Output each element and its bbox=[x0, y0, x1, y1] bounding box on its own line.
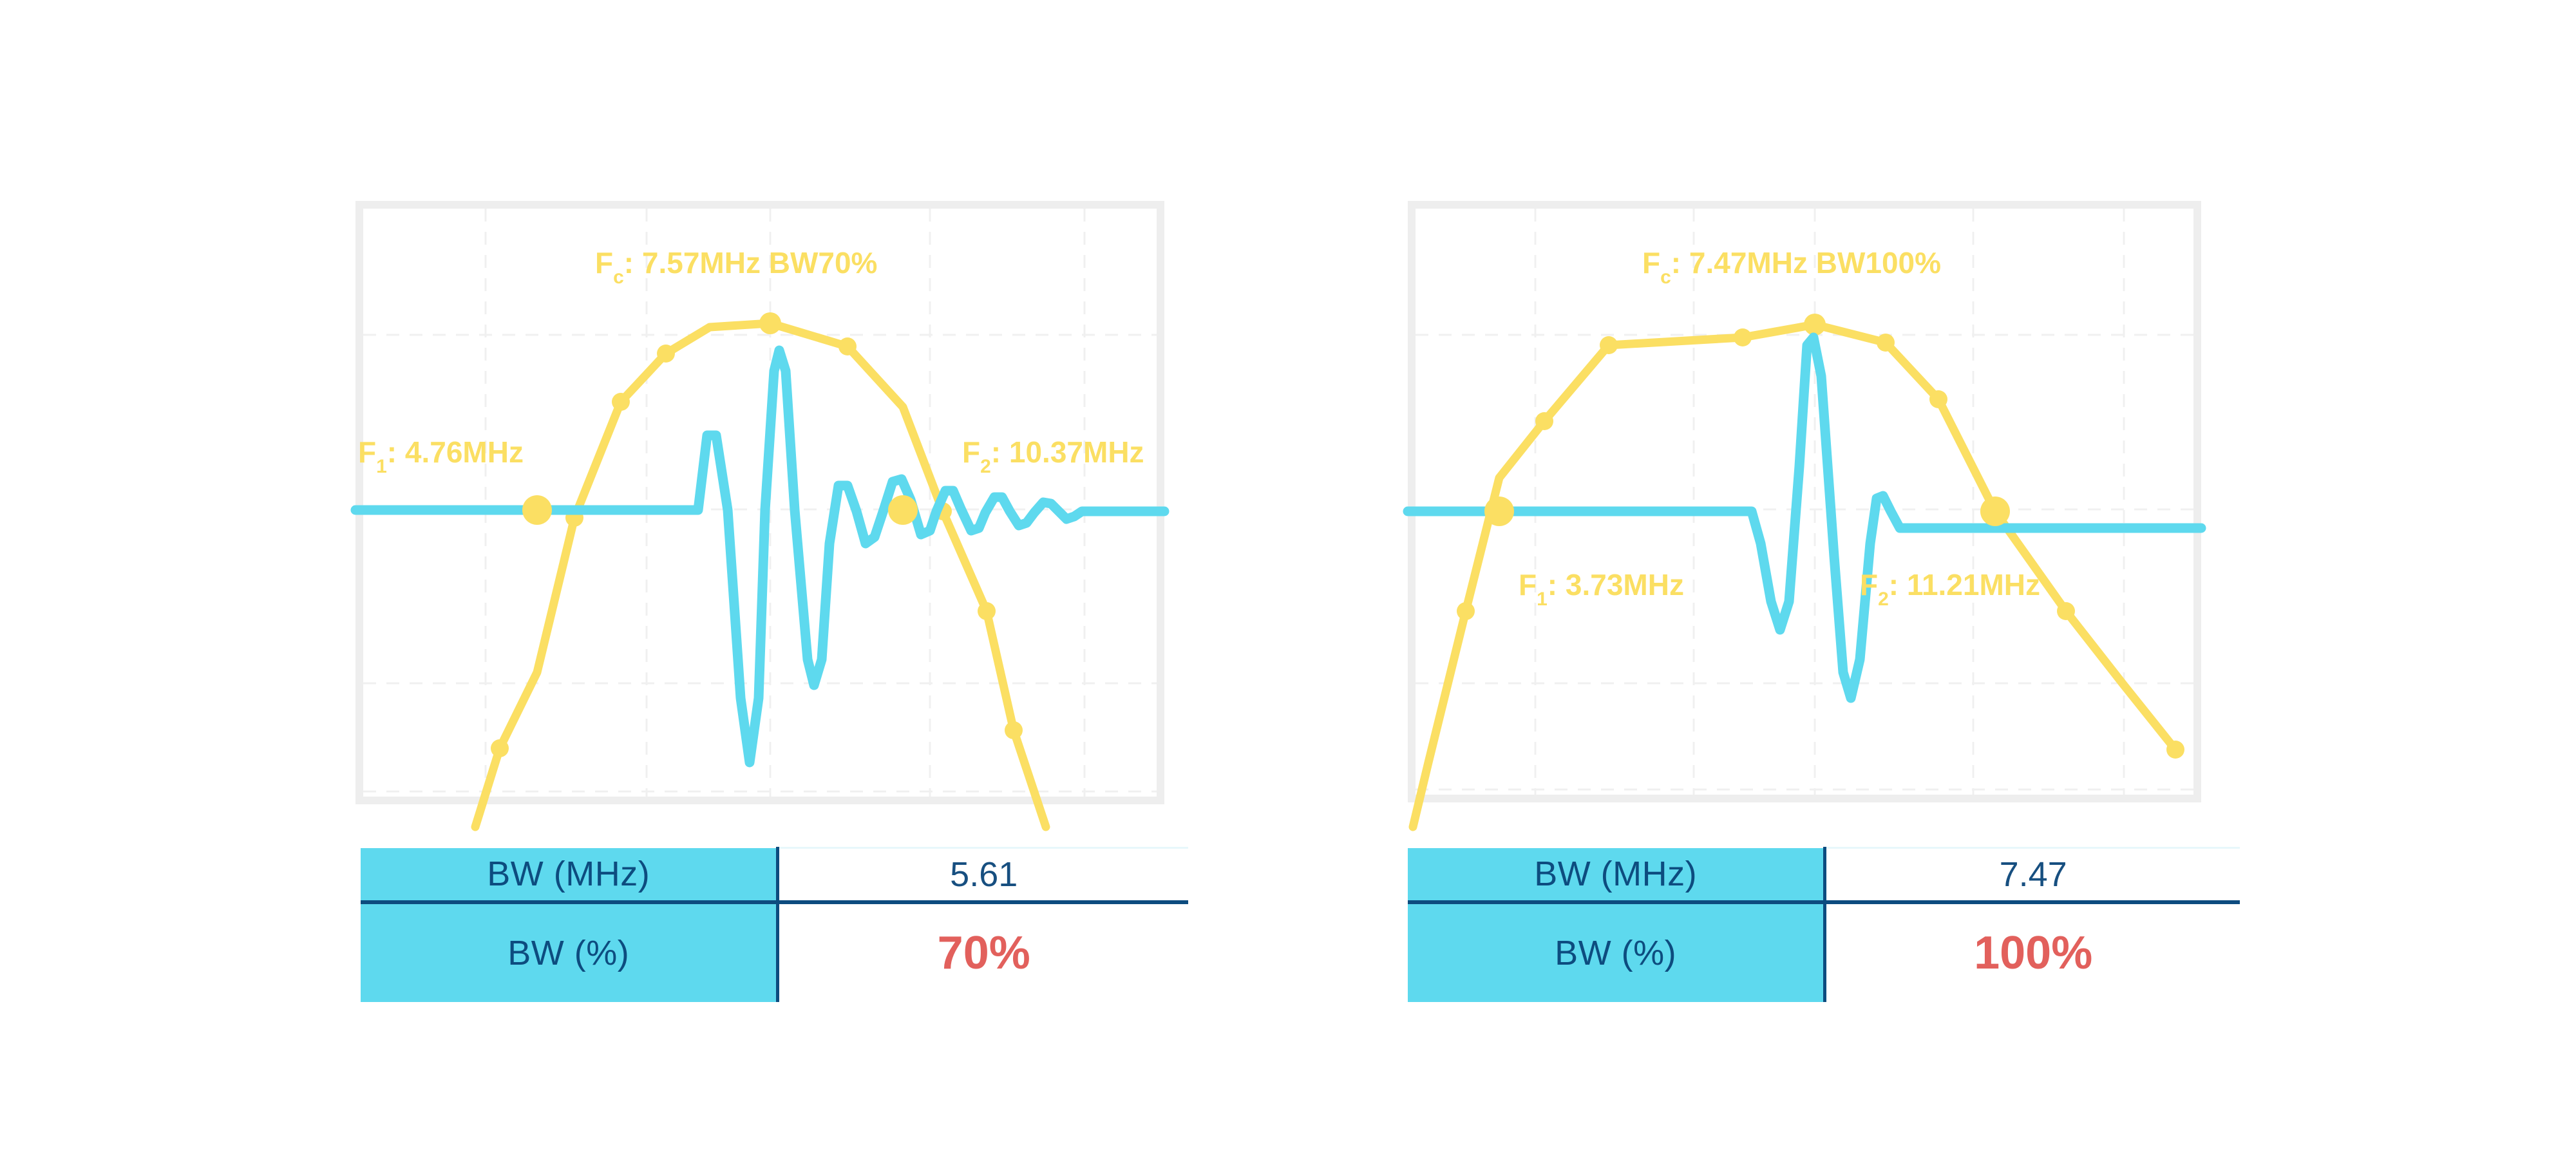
marker-f2-left bbox=[888, 495, 918, 525]
chart-frame-left: Fc: 7.57MHz BW70% F1: 4.76MHz F2: 10.37M… bbox=[355, 201, 1164, 804]
panel-left: Fc: 7.57MHz BW70% F1: 4.76MHz F2: 10.37M… bbox=[355, 201, 1193, 1057]
panel-right: Fc: 7.47MHz BW100% F1: 3.73MHz F2: 11.21… bbox=[1408, 201, 2245, 1057]
bw-table-right: BW (MHz) 7.47 BW (%) 100% bbox=[1408, 847, 2240, 1002]
bw-percent-value-right: 100% bbox=[1825, 902, 2240, 1002]
marker-f1-right bbox=[1484, 497, 1514, 526]
label-f2-text-right: : 11.21MHz bbox=[1889, 568, 2040, 601]
bw-mhz-label-right: BW (MHz) bbox=[1408, 848, 1825, 903]
table-row: BW (MHz) 7.47 bbox=[1408, 848, 2240, 903]
table-row: BW (%) 70% bbox=[361, 902, 1188, 1002]
bw-percent-label-right: BW (%) bbox=[1408, 902, 1825, 1002]
bw-mhz-value-left: 5.61 bbox=[778, 848, 1188, 903]
bw-percent-value-left: 70% bbox=[778, 902, 1188, 1002]
label-f1-symbol-right: F bbox=[1519, 568, 1537, 601]
label-f1-text-left: : 4.76MHz bbox=[387, 435, 524, 469]
label-fc-right: Fc: 7.47MHz BW100% bbox=[1642, 246, 1941, 288]
label-fc-text-left: : 7.57MHz BW70% bbox=[624, 246, 878, 279]
chart-right: Fc: 7.47MHz BW100% F1: 3.73MHz F2: 11.21… bbox=[1416, 209, 2193, 795]
pulse-waveform-right bbox=[1408, 337, 2201, 698]
label-f1-symbol-left: F bbox=[358, 435, 376, 469]
label-fc-symbol-left: F bbox=[595, 246, 613, 279]
bw-mhz-label-left: BW (MHz) bbox=[361, 848, 778, 903]
screenshot-canvas: Fc: 7.57MHz BW70% F1: 4.76MHz F2: 10.37M… bbox=[0, 0, 2576, 1154]
label-f1-sub-right: 1 bbox=[1537, 589, 1548, 610]
label-f1-sub-left: 1 bbox=[376, 456, 387, 477]
marker-f1-left bbox=[522, 495, 552, 525]
label-fc-left: Fc: 7.57MHz BW70% bbox=[595, 246, 877, 288]
table-row: BW (%) 100% bbox=[1408, 902, 2240, 1002]
label-f2-symbol-right: F bbox=[1860, 568, 1878, 601]
label-f2-sub-right: 2 bbox=[1878, 589, 1889, 610]
label-fc-sub-left: c bbox=[613, 267, 624, 288]
label-f1-left: F1: 4.76MHz bbox=[358, 435, 524, 477]
bw-table-left: BW (MHz) 5.61 BW (%) 70% bbox=[361, 847, 1188, 1002]
label-f2-sub-left: 2 bbox=[980, 456, 991, 477]
label-f2-text-left: : 10.37MHz bbox=[991, 435, 1144, 469]
table-row: BW (MHz) 5.61 bbox=[361, 848, 1188, 903]
grid-lines-right bbox=[1416, 209, 2193, 795]
label-f2-right: F2: 11.21MHz bbox=[1860, 568, 2040, 610]
label-f1-right: F1: 3.73MHz bbox=[1519, 568, 1684, 610]
chart-left: Fc: 7.57MHz BW70% F1: 4.76MHz F2: 10.37M… bbox=[363, 209, 1157, 797]
label-fc-sub-right: c bbox=[1660, 267, 1671, 288]
chart-frame-right: Fc: 7.47MHz BW100% F1: 3.73MHz F2: 11.21… bbox=[1408, 201, 2201, 802]
bw-mhz-value-right: 7.47 bbox=[1825, 848, 2240, 903]
label-fc-symbol-right: F bbox=[1642, 246, 1660, 279]
marker-f2-right bbox=[1980, 497, 2010, 526]
label-f2-left: F2: 10.37MHz bbox=[962, 435, 1144, 477]
label-f1-text-right: : 3.73MHz bbox=[1548, 568, 1684, 601]
pulse-waveform-left bbox=[355, 350, 1164, 762]
bw-percent-label-left: BW (%) bbox=[361, 902, 778, 1002]
label-fc-text-right: : 7.47MHz BW100% bbox=[1671, 246, 1941, 279]
label-f2-symbol-left: F bbox=[962, 435, 980, 469]
